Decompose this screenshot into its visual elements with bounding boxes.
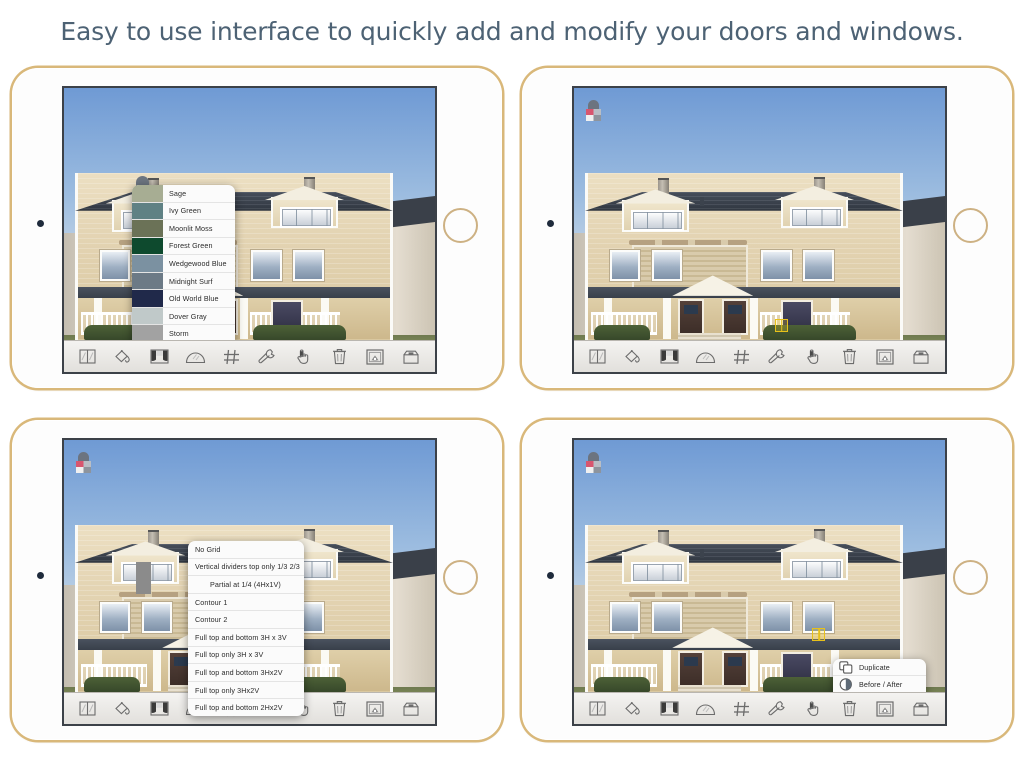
grid-list-item[interactable]: Full top and bottom 3H x 3V bbox=[188, 629, 304, 647]
color-list-item-label: Midnight Surf bbox=[163, 277, 213, 286]
hand-pointer-icon[interactable] bbox=[798, 345, 828, 369]
photo-frame-icon[interactable] bbox=[360, 697, 390, 721]
open-box-icon[interactable] bbox=[396, 345, 426, 369]
window-icon[interactable] bbox=[583, 345, 613, 369]
arch-icon[interactable] bbox=[181, 345, 211, 369]
paint-bucket-icon[interactable] bbox=[109, 345, 139, 369]
shrub bbox=[253, 325, 346, 340]
grid-list-item[interactable]: Full top only 3Hx2V bbox=[188, 682, 304, 700]
home-button[interactable] bbox=[443, 560, 478, 595]
color-swatch bbox=[132, 273, 163, 290]
curtain-icon[interactable] bbox=[655, 345, 685, 369]
house-photo bbox=[64, 88, 435, 372]
color-list-item[interactable]: Ivy Green bbox=[132, 203, 235, 221]
dormer-window bbox=[271, 197, 337, 228]
color-list-item[interactable]: Dover Gray bbox=[132, 308, 235, 326]
curtain-icon[interactable] bbox=[145, 345, 175, 369]
duplicate-icon bbox=[838, 660, 853, 674]
wrench-icon[interactable] bbox=[762, 697, 792, 721]
device-2-toolbar[interactable] bbox=[574, 340, 945, 372]
page-title: Easy to use interface to quickly add and… bbox=[0, 0, 1024, 62]
grid-list-item[interactable]: No Grid bbox=[188, 541, 304, 559]
grid-list-item[interactable]: Contour 2 bbox=[188, 611, 304, 629]
grid-list-item-label: Full top only 3Hx2V bbox=[195, 686, 259, 695]
color-list-item[interactable]: Old World Blue bbox=[132, 290, 235, 308]
color-list-item-label: Storm bbox=[163, 329, 189, 338]
paint-bucket-icon[interactable] bbox=[109, 697, 139, 721]
open-box-icon[interactable] bbox=[906, 697, 936, 721]
before-after-icon bbox=[838, 678, 853, 692]
grid-list-item[interactable]: Full top and bottom 3Hx2V bbox=[188, 664, 304, 682]
grid-icon[interactable] bbox=[217, 345, 247, 369]
paint-bucket-icon[interactable] bbox=[619, 697, 649, 721]
hand-pointer-icon[interactable] bbox=[288, 345, 318, 369]
window-icon[interactable] bbox=[583, 697, 613, 721]
front-camera-dot bbox=[37, 572, 44, 579]
grid-list-item[interactable]: Partial at 1/4 (4Hx1V) bbox=[188, 576, 304, 594]
grid-list-item-label: Full top and bottom 2Hx2V bbox=[195, 703, 283, 712]
device-1-toolbar[interactable] bbox=[64, 340, 435, 372]
open-box-icon[interactable] bbox=[906, 345, 936, 369]
trash-icon[interactable] bbox=[834, 697, 864, 721]
grid-list-item-label: Contour 2 bbox=[195, 615, 227, 624]
grid-list-item-label: No Grid bbox=[195, 545, 220, 554]
color-swatch bbox=[132, 238, 163, 255]
color-list-item-label: Dover Gray bbox=[163, 312, 207, 321]
paint-roller-icon[interactable] bbox=[586, 100, 601, 121]
porch-column bbox=[240, 298, 248, 339]
grid-list-item-label: Full top and bottom 3H x 3V bbox=[195, 633, 287, 642]
home-button[interactable] bbox=[953, 560, 988, 595]
paint-roller-icon[interactable] bbox=[586, 452, 601, 473]
curtain-icon[interactable] bbox=[655, 697, 685, 721]
color-swatch bbox=[132, 185, 163, 202]
grid-list-item-label: Vertical dividers top only 1/3 2/3 bbox=[195, 562, 300, 571]
photo-frame-icon[interactable] bbox=[870, 697, 900, 721]
device-2: No BackgroundMistSilverUmbraDarkTwilight… bbox=[522, 68, 1012, 388]
window-icon[interactable] bbox=[73, 345, 103, 369]
house-photo bbox=[574, 88, 945, 372]
grid-list-panel[interactable]: No GridVertical dividers top only 1/3 2/… bbox=[188, 541, 304, 716]
grid-icon[interactable] bbox=[727, 345, 757, 369]
front-camera-dot bbox=[547, 572, 554, 579]
color-list-item[interactable]: Moonlit Moss bbox=[132, 220, 235, 238]
action-menu-item-label: Before / After bbox=[853, 680, 902, 689]
grid-list-item[interactable]: Vertical dividers top only 1/3 2/3 bbox=[188, 559, 304, 577]
arch-icon[interactable] bbox=[691, 345, 721, 369]
grid-list-scroll-strip[interactable] bbox=[136, 562, 151, 594]
color-swatch bbox=[132, 255, 163, 272]
color-swatch bbox=[132, 290, 163, 307]
color-list-item[interactable]: Midnight Surf bbox=[132, 273, 235, 291]
grid-list-item-label: Contour 1 bbox=[195, 598, 227, 607]
selection-marker[interactable] bbox=[775, 319, 788, 332]
front-camera-dot bbox=[37, 220, 44, 227]
home-button[interactable] bbox=[953, 208, 988, 243]
trash-icon[interactable] bbox=[324, 345, 354, 369]
curtain-icon[interactable] bbox=[145, 697, 175, 721]
device-1: SageIvy GreenMoonlit MossForest GreenWed… bbox=[12, 68, 502, 388]
grid-icon[interactable] bbox=[727, 697, 757, 721]
color-list-item[interactable]: Wedgewood Blue bbox=[132, 255, 235, 273]
grid-list-item-label: Full top only 3H x 3V bbox=[195, 650, 263, 659]
paint-bucket-icon[interactable] bbox=[619, 345, 649, 369]
photo-frame-icon[interactable] bbox=[360, 345, 390, 369]
paint-roller-icon[interactable] bbox=[76, 452, 91, 473]
color-swatch bbox=[132, 220, 163, 237]
wrench-icon[interactable] bbox=[762, 345, 792, 369]
device-4-screen: DuplicateBefore / AfterSelect AllRemove … bbox=[572, 438, 947, 726]
color-list-item-label: Moonlit Moss bbox=[163, 224, 213, 233]
grid-list-item[interactable]: Full top only 3H x 3V bbox=[188, 647, 304, 665]
grid-list-item[interactable]: Contour 1 bbox=[188, 594, 304, 612]
device-1-screen: SageIvy GreenMoonlit MossForest GreenWed… bbox=[62, 86, 437, 374]
action-menu-item-label: Duplicate bbox=[853, 663, 890, 672]
color-swatch bbox=[132, 308, 163, 325]
wrench-icon[interactable] bbox=[252, 345, 282, 369]
color-list-item-label: Sage bbox=[163, 189, 186, 198]
trash-icon[interactable] bbox=[324, 697, 354, 721]
hand-pointer-icon[interactable] bbox=[798, 697, 828, 721]
front-camera-dot bbox=[547, 220, 554, 227]
device-3: No GridVertical dividers top only 1/3 2/… bbox=[12, 420, 502, 740]
grid-list-item-label: Full top and bottom 3Hx2V bbox=[195, 668, 283, 677]
selection-marker[interactable] bbox=[812, 628, 825, 641]
open-box-icon[interactable] bbox=[396, 697, 426, 721]
color-list-item-label: Old World Blue bbox=[163, 294, 219, 303]
action-menu-item[interactable]: Duplicate bbox=[833, 659, 926, 676]
grid-list-item-label: Partial at 1/4 (4Hx1V) bbox=[210, 580, 281, 589]
arch-icon[interactable] bbox=[691, 697, 721, 721]
upper-window bbox=[100, 250, 130, 281]
color-list-item[interactable]: Forest Green bbox=[132, 238, 235, 256]
window-icon[interactable] bbox=[73, 697, 103, 721]
color-swatch bbox=[132, 203, 163, 220]
photo-frame-icon[interactable] bbox=[870, 345, 900, 369]
home-button[interactable] bbox=[443, 208, 478, 243]
device-4: DuplicateBefore / AfterSelect AllRemove … bbox=[522, 420, 1012, 740]
color-list-item-label: Forest Green bbox=[163, 241, 213, 250]
color-list-item-label: Wedgewood Blue bbox=[163, 259, 227, 268]
upper-window bbox=[293, 250, 323, 281]
trash-icon[interactable] bbox=[834, 345, 864, 369]
color-list-item-label: Ivy Green bbox=[163, 206, 201, 215]
grid-list-item[interactable]: Full top and bottom 2Hx2V bbox=[188, 699, 304, 716]
device-2-screen: No BackgroundMistSilverUmbraDarkTwilight… bbox=[572, 86, 947, 374]
device-4-toolbar[interactable] bbox=[574, 692, 945, 724]
upper-window bbox=[251, 250, 281, 281]
color-list-item[interactable]: Sage bbox=[132, 185, 235, 203]
